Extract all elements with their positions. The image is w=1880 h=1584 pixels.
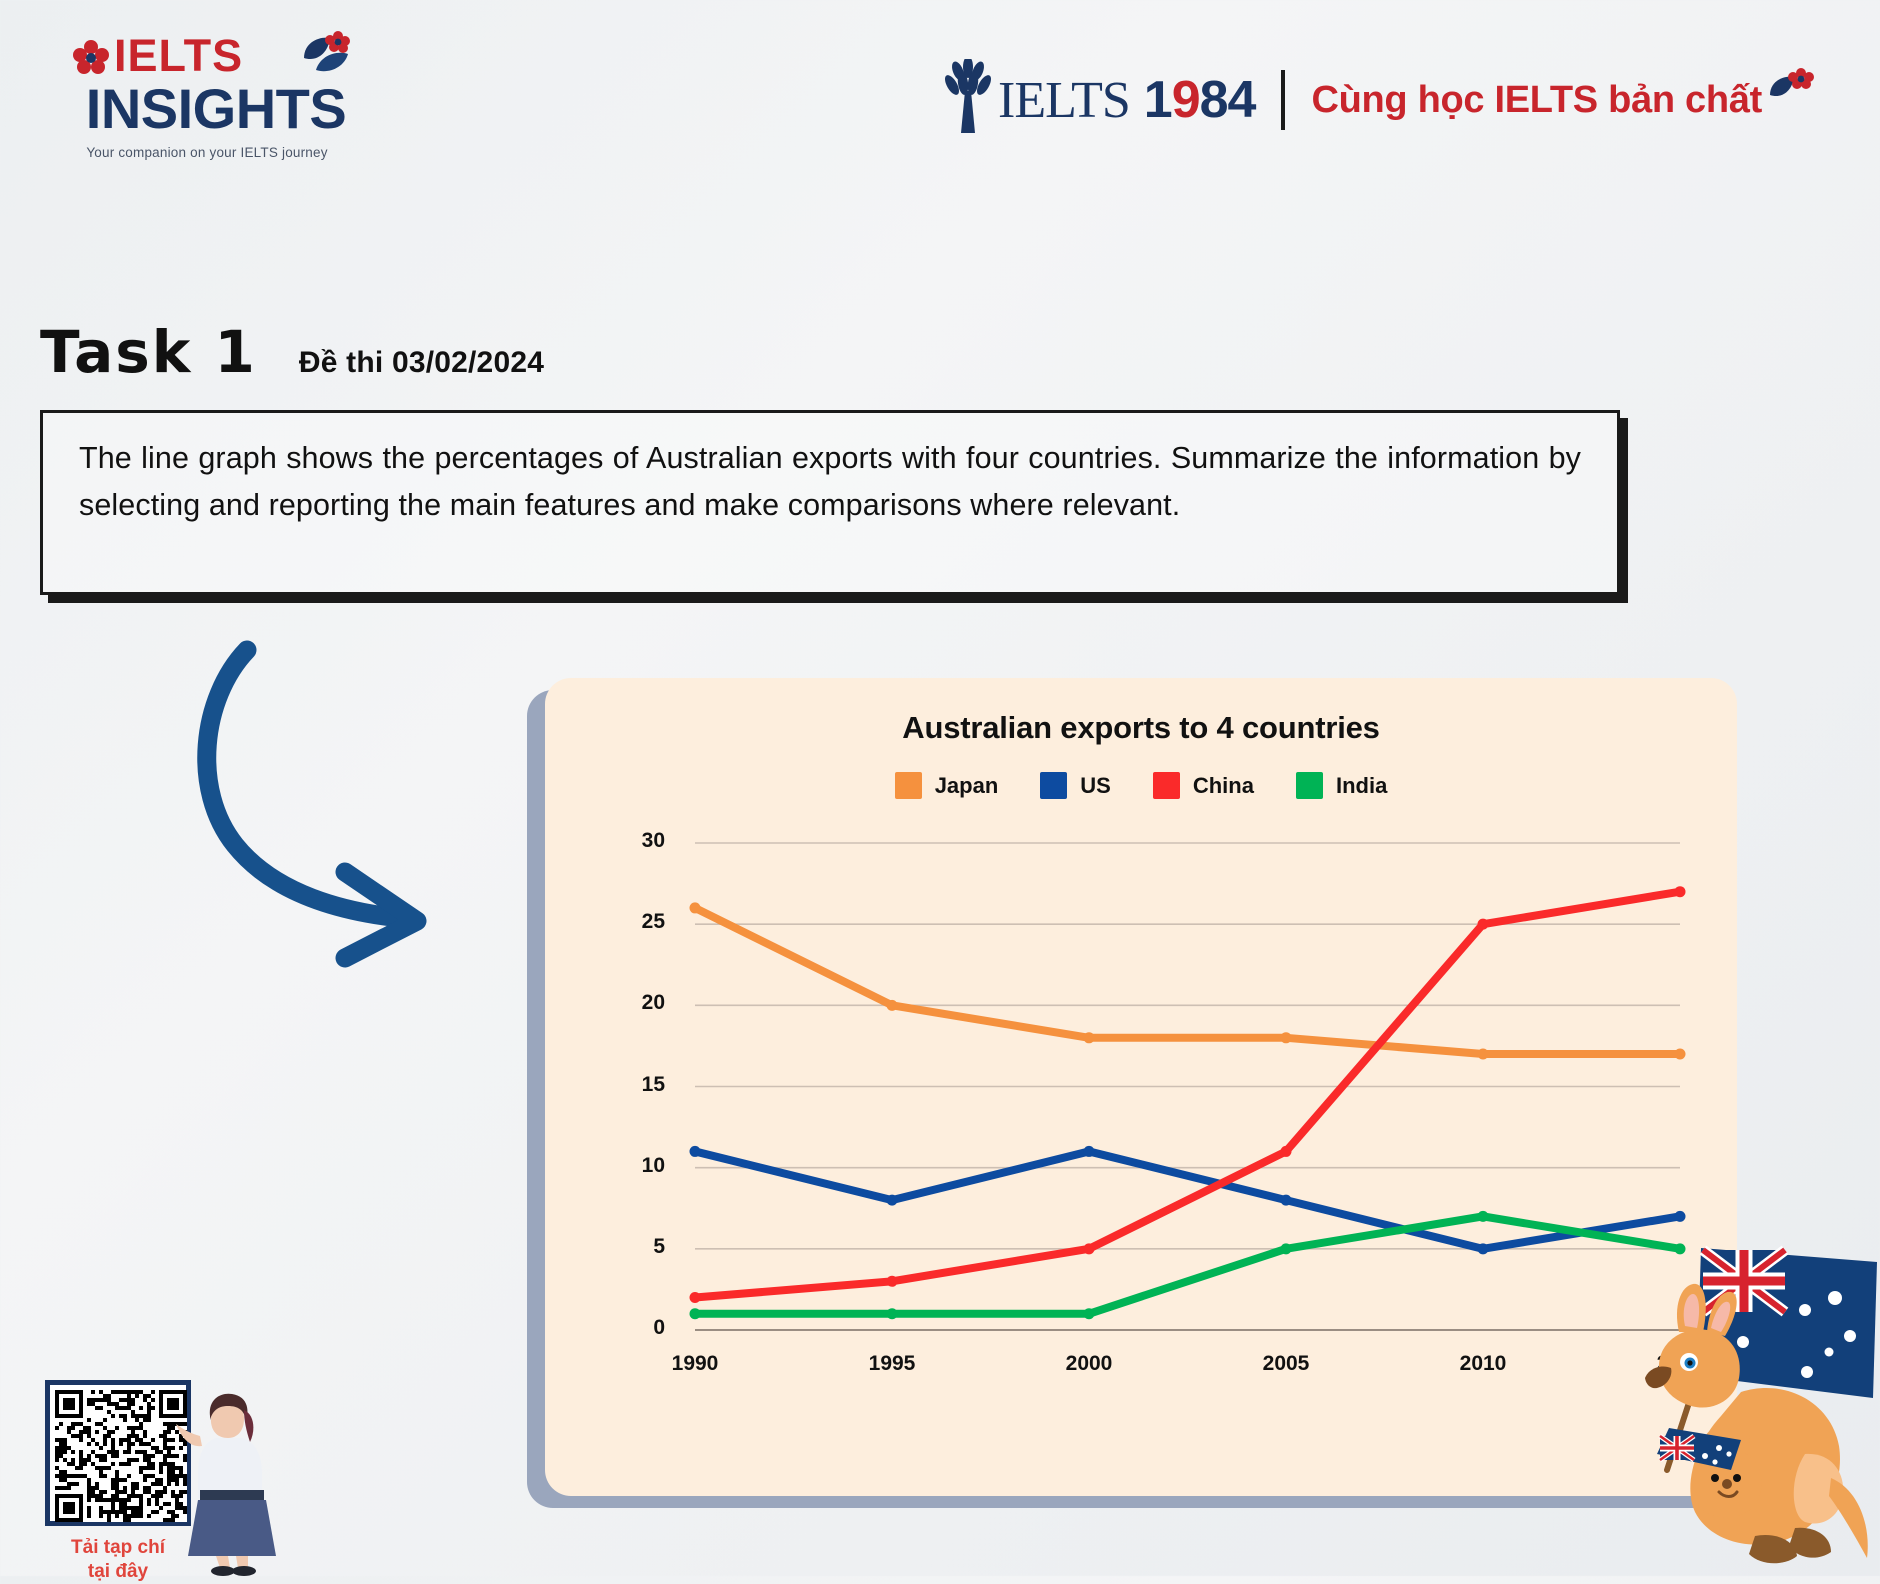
x-axis-tick: 1995	[837, 1352, 947, 1376]
exam-date-label: Đề thi 03/02/2024	[299, 346, 544, 380]
legend-swatch-china	[1153, 772, 1180, 799]
chart-title: Australian exports to 4 countries	[545, 710, 1737, 746]
brand-right-slogan: Cùng học IELTS bản chất	[1311, 79, 1762, 122]
x-axis-tick: 2005	[1231, 1352, 1341, 1376]
flower-icon	[68, 36, 114, 82]
brand-left-line2: INSIGHTS	[86, 76, 346, 141]
year-digit-1: 1	[1144, 71, 1172, 129]
person-illustration	[176, 1386, 291, 1576]
x-axis-tick: 2010	[1428, 1352, 1538, 1376]
y-axis-tick: 30	[605, 829, 665, 853]
brand-ielts-1984: IELTS 1984 Cùng học IELTS bản chất	[940, 60, 1814, 140]
legend-label-india: India	[1336, 773, 1387, 799]
y-axis-tick: 0	[605, 1316, 665, 1340]
y-axis-tick: 15	[605, 1073, 665, 1097]
task-prompt-box: The line graph shows the percentages of …	[40, 410, 1620, 595]
legend-swatch-us	[1040, 772, 1067, 799]
brand-ielts-insights: IELTS INSIGHTS Your companion on your IE…	[62, 30, 352, 160]
task-heading-row: Task 1 Đề thi 03/02/2024	[40, 318, 544, 386]
legend-label-japan: Japan	[935, 773, 999, 799]
line-chart-svg	[545, 825, 1737, 1425]
qr-code-icon[interactable]	[45, 1380, 191, 1526]
year-digits-84: 84	[1200, 71, 1256, 129]
y-axis-tick: 5	[605, 1235, 665, 1259]
year-digit-9: 9	[1172, 71, 1200, 129]
brand-right-year: 1984	[1144, 70, 1256, 130]
legend-label-us: US	[1080, 773, 1111, 799]
page-title: Task 1	[40, 318, 257, 386]
leaf-icon	[300, 28, 352, 76]
chart-legend: Japan US China India	[545, 772, 1737, 799]
brand-left-line1: IELTS	[114, 30, 243, 82]
kangaroo-with-australian-flag-illustration	[1645, 1240, 1880, 1570]
legend-swatch-japan	[895, 772, 922, 799]
y-axis-tick: 25	[605, 910, 665, 934]
brand-right-name: IELTS	[998, 71, 1130, 130]
tree-icon	[940, 59, 996, 135]
chart-card: Australian exports to 4 countries Japan …	[545, 678, 1737, 1496]
brand-left-tagline: Your companion on your IELTS journey	[62, 145, 352, 160]
legend-item-india[interactable]: India	[1296, 772, 1387, 799]
page-header: IELTS INSIGHTS Your companion on your IE…	[0, 0, 1880, 190]
y-axis-tick: 20	[605, 991, 665, 1015]
brand-divider	[1281, 70, 1285, 130]
legend-item-china[interactable]: China	[1153, 772, 1254, 799]
y-axis-tick: 10	[605, 1154, 665, 1178]
x-axis-tick: 1990	[640, 1352, 750, 1376]
chart-plot-area: 051015202530 199019952000200520102012	[545, 825, 1737, 1425]
task-prompt-text: The line graph shows the percentages of …	[79, 435, 1581, 530]
curved-arrow-icon	[195, 640, 455, 970]
legend-item-japan[interactable]: Japan	[895, 772, 999, 799]
legend-label-china: China	[1193, 773, 1254, 799]
legend-item-us[interactable]: US	[1040, 772, 1111, 799]
x-axis-tick: 2000	[1034, 1352, 1144, 1376]
flower-icon	[1768, 65, 1814, 109]
qr-code-matrix	[55, 1390, 187, 1522]
brand-left-wordmark: IELTS	[62, 30, 352, 82]
legend-swatch-india	[1296, 772, 1323, 799]
